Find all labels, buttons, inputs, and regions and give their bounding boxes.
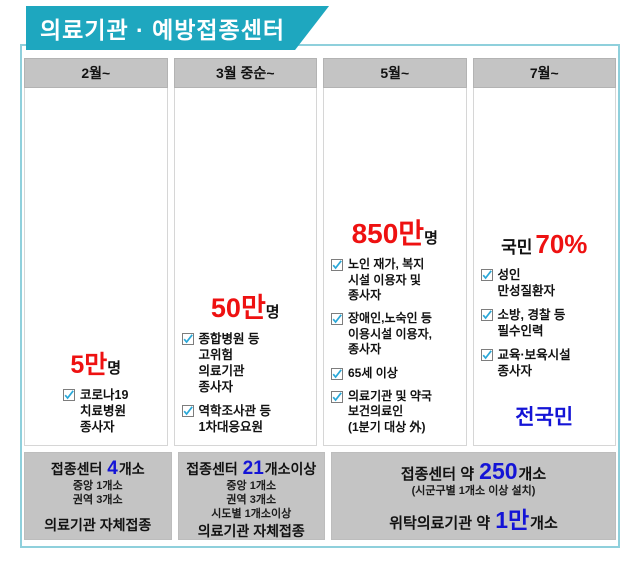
column-header-1: 2월~ xyxy=(24,58,168,88)
infographic-page: 의료기관 · 예방접종센터 2월~ 5만명 코로나19 치료병원 종사자 xyxy=(0,0,640,565)
column-body-1: 5만명 코로나19 치료병원 종사자 xyxy=(24,88,168,446)
list-item: 교육·보육시설 종사자 xyxy=(481,347,609,379)
check-box-icon xyxy=(182,333,194,345)
headline-2: 50만명 xyxy=(182,294,310,322)
check-box-icon xyxy=(481,349,493,361)
list-item: 노인 재가, 복지 시설 이용자 및 종사자 xyxy=(331,257,459,303)
headline-unit-1: 명 xyxy=(107,360,121,377)
check-box-icon xyxy=(331,313,343,325)
footer-subtext-1: 중앙 1개소 권역 3개소 xyxy=(73,480,123,508)
footer-subtext-3: (시군구별 1개소 이상 설치) xyxy=(412,485,536,499)
headline-prefix-4: 국민 xyxy=(501,238,532,257)
list-item: 의료기관 및 약국 보건의료인 (1분기 대상 外) xyxy=(331,389,459,435)
footer-bottom-line-3: 위탁의료기관 약 1만개소 xyxy=(389,501,558,535)
list-item-label: 노인 재가, 복지 시설 이용자 및 종사자 xyxy=(348,257,424,303)
check-box-icon xyxy=(331,391,343,403)
bullet-list-4: 성인 만성질환자 소방, 경찰 등 필수인력 교육·보육시설 종사자 xyxy=(481,267,609,379)
headline-4: 국민70% xyxy=(481,231,609,258)
list-item: 코로나19 치료병원 종사자 xyxy=(63,387,128,435)
footer-suffix-3: 개소 xyxy=(519,466,547,483)
list-item: 성인 만성질환자 xyxy=(481,267,609,299)
list-item-label: 성인 만성질환자 xyxy=(498,267,556,299)
bullet-list-3: 노인 재가, 복지 시설 이용자 및 종사자 장애인,노숙인 등 이용시설 이용… xyxy=(331,257,459,435)
footer-cell-1: 접종센터 4개소 중앙 1개소 권역 3개소 의료기관 자체접종 xyxy=(24,452,172,540)
footer-cell-3: 접종센터 약 250개소 (시군구별 1개소 이상 설치) 위탁의료기관 약 1… xyxy=(331,452,616,540)
page-title: 의료기관 · 예방접종센터 xyxy=(40,11,285,45)
headline-1: 5만명 xyxy=(32,352,160,378)
column-body-2: 50만명 종합병원 등 고위험 의료기관 종사자 역학조사관 등 1차대응요원 xyxy=(174,88,318,446)
list-item: 65세 이상 xyxy=(331,366,459,381)
headline-unit-3: 명 xyxy=(424,230,438,247)
footer-bottom-1: 의료기관 자체접종 xyxy=(44,515,151,535)
list-item: 종합병원 등 고위험 의료기관 종사자 xyxy=(182,331,310,395)
headline-number-3: 850만 xyxy=(352,218,424,249)
footer-number-3: 250 xyxy=(479,458,517,484)
footer-bottom-suffix-3: 개소 xyxy=(530,515,558,532)
list-item-label: 소방, 경찰 등 필수인력 xyxy=(498,307,566,339)
banner-shape: 의료기관 · 예방접종센터 xyxy=(26,6,329,50)
footer-main-line-2: 접종센터 21개소이상 xyxy=(186,458,316,480)
footer-main-line-1: 접종센터 4개소 xyxy=(51,458,145,480)
list-item-label: 교육·보육시설 종사자 xyxy=(498,347,571,379)
footer-suffix-1: 개소 xyxy=(119,461,145,477)
headline-number-4: 70% xyxy=(535,229,587,259)
list-item-label: 65세 이상 xyxy=(348,366,398,381)
list-item: 역학조사관 등 1차대응요원 xyxy=(182,403,310,435)
check-box-icon xyxy=(63,389,75,401)
footer-prefix-2: 접종센터 xyxy=(186,461,238,477)
footer-suffix-2: 개소이상 xyxy=(265,461,317,477)
column-footnote-4: 전국민 xyxy=(481,401,609,431)
footer-summary: 접종센터 4개소 중앙 1개소 권역 3개소 의료기관 자체접종 접종센터 21… xyxy=(24,452,616,540)
headline-number-2: 50만 xyxy=(211,293,266,323)
footer-number-1: 4 xyxy=(107,458,118,479)
footer-main-line-3: 접종센터 약 250개소 xyxy=(401,458,546,485)
timeline-column-3: 5월~ 850만명 노인 재가, 복지 시설 이용자 및 종사자 xyxy=(323,58,467,446)
list-item-label: 코로나19 치료병원 종사자 xyxy=(80,387,128,435)
timeline-columns: 2월~ 5만명 코로나19 치료병원 종사자 3월 중순~ xyxy=(24,58,616,446)
bullet-list-1: 코로나19 치료병원 종사자 xyxy=(32,387,160,435)
column-header-3: 5월~ xyxy=(323,58,467,88)
footer-prefix-1: 접종센터 xyxy=(51,461,103,477)
footer-cell-2: 접종센터 21개소이상 중앙 1개소 권역 3개소 시도별 1개소이상 의료기관… xyxy=(178,452,326,540)
headline-unit-2: 명 xyxy=(266,304,280,321)
list-item-label: 장애인,노숙인 등 이용시설 이용자, 종사자 xyxy=(348,311,432,357)
footer-prefix-3: 접종센터 약 xyxy=(401,466,474,483)
footer-bottom-prefix-3: 위탁의료기관 약 xyxy=(389,515,490,532)
headline-number-1: 5만 xyxy=(70,351,107,379)
check-box-icon xyxy=(481,309,493,321)
footer-number-2: 21 xyxy=(243,458,264,479)
column-body-3: 850만명 노인 재가, 복지 시설 이용자 및 종사자 장애인,노숙인 등 이… xyxy=(323,88,467,446)
headline-3: 850만명 xyxy=(331,219,459,248)
check-box-icon xyxy=(331,259,343,271)
timeline-column-4: 7월~ 국민70% 성인 만성질환자 xyxy=(473,58,617,446)
footer-subtext-2: 중앙 1개소 권역 3개소 시도별 1개소이상 xyxy=(211,480,291,521)
bullet-list-2: 종합병원 등 고위험 의료기관 종사자 역학조사관 등 1차대응요원 xyxy=(182,331,310,435)
footer-bottom-2: 의료기관 자체접종 xyxy=(198,521,305,541)
check-box-icon xyxy=(331,368,343,380)
column-body-4: 국민70% 성인 만성질환자 소방, 경찰 등 필수인력 xyxy=(473,88,617,446)
check-box-icon xyxy=(182,405,194,417)
column-header-4: 7월~ xyxy=(473,58,617,88)
list-item-label: 역학조사관 등 1차대응요원 xyxy=(199,403,271,435)
list-item: 소방, 경찰 등 필수인력 xyxy=(481,307,609,339)
list-item: 장애인,노숙인 등 이용시설 이용자, 종사자 xyxy=(331,311,459,357)
timeline-column-1: 2월~ 5만명 코로나19 치료병원 종사자 xyxy=(24,58,168,446)
timeline-column-2: 3월 중순~ 50만명 종합병원 등 고위험 의료기관 종사자 xyxy=(174,58,318,446)
list-item-label: 의료기관 및 약국 보건의료인 (1분기 대상 外) xyxy=(348,389,432,435)
check-box-icon xyxy=(481,269,493,281)
column-header-2: 3월 중순~ xyxy=(174,58,318,88)
list-item-label: 종합병원 등 고위험 의료기관 종사자 xyxy=(199,331,260,395)
footer-bottom-number-3: 1만 xyxy=(495,507,529,533)
banner: 의료기관 · 예방접종센터 xyxy=(26,6,329,50)
